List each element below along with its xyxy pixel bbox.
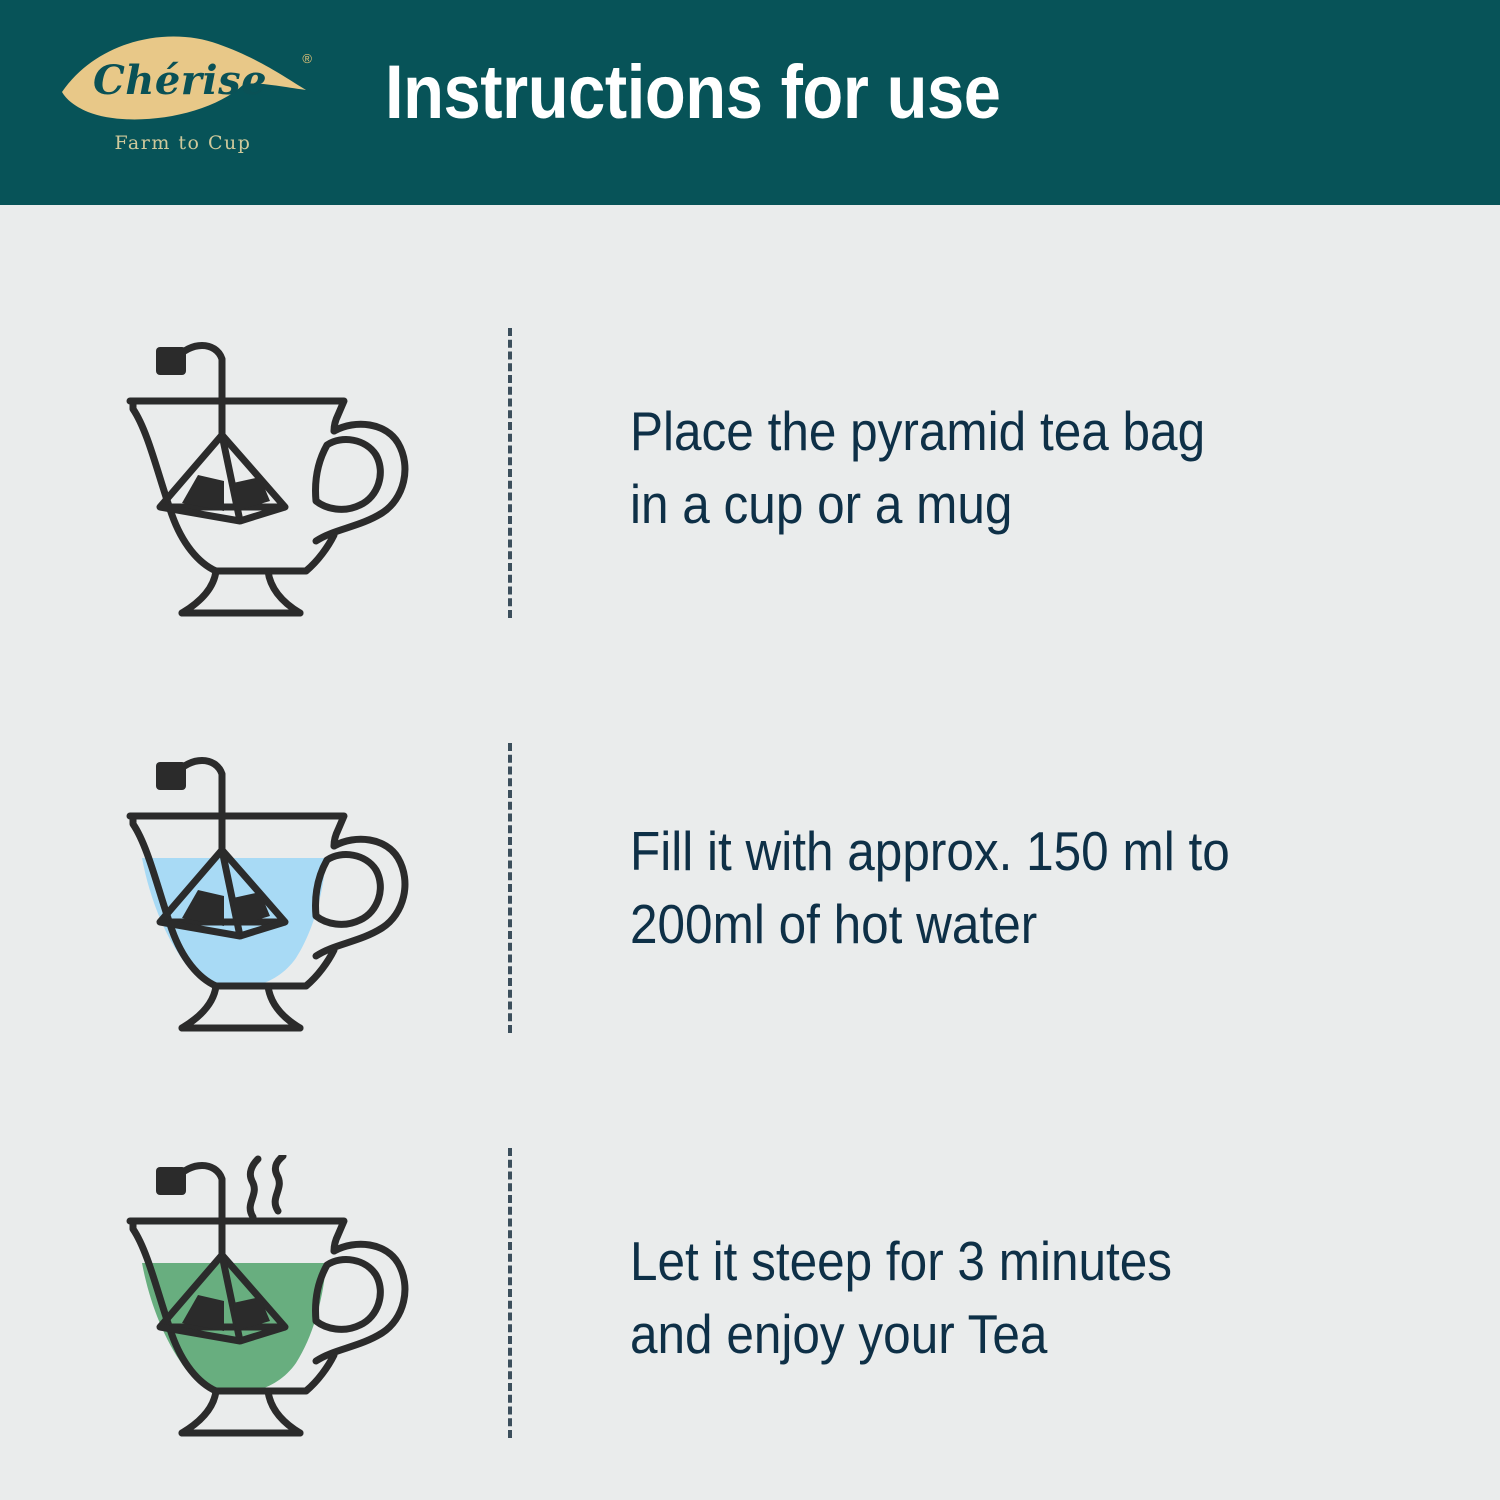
step-divider: [508, 328, 512, 618]
teacup-svg: [120, 1155, 430, 1455]
teabag-tag-icon: [156, 1167, 186, 1195]
teacup-svg: [120, 335, 430, 635]
teacup-with-pyramid-teabag-water-icon: [120, 750, 430, 1050]
step-description: Let it steep for 3 minutes and enjoy you…: [630, 1225, 1350, 1370]
teabag-tag-icon: [156, 347, 186, 375]
teacup-svg: [120, 750, 430, 1050]
instruction-step: Place the pyramid tea bag in a cup or a …: [0, 300, 1500, 690]
step-divider: [508, 1148, 512, 1438]
teabag-tag-icon: [156, 762, 186, 790]
teacup-with-pyramid-teabag-tea-steam-icon: [120, 1155, 430, 1455]
instruction-step: Fill it with approx. 150 ml to 200ml of …: [0, 715, 1500, 1105]
logo-tagline: Farm to Cup: [58, 132, 308, 154]
pyramid-teabag-icon: [160, 435, 285, 521]
brand-logo: Chérise ® Farm to Cup: [58, 30, 308, 175]
instructions-poster: Chérise ® Farm to Cup Instructions for u…: [0, 0, 1500, 1500]
steam-icon: [250, 1156, 283, 1217]
header-band: Chérise ® Farm to Cup Instructions for u…: [0, 0, 1500, 205]
teacup-with-pyramid-teabag-empty-icon: [120, 335, 430, 635]
logo-wordmark: Chérise: [58, 30, 308, 130]
page-title: Instructions for use: [385, 55, 1000, 131]
instruction-step: Let it steep for 3 minutes and enjoy you…: [0, 1120, 1500, 1500]
step-description: Fill it with approx. 150 ml to 200ml of …: [630, 815, 1350, 960]
step-description: Place the pyramid tea bag in a cup or a …: [630, 395, 1350, 540]
registered-trademark-icon: ®: [302, 52, 312, 65]
step-divider: [508, 743, 512, 1033]
